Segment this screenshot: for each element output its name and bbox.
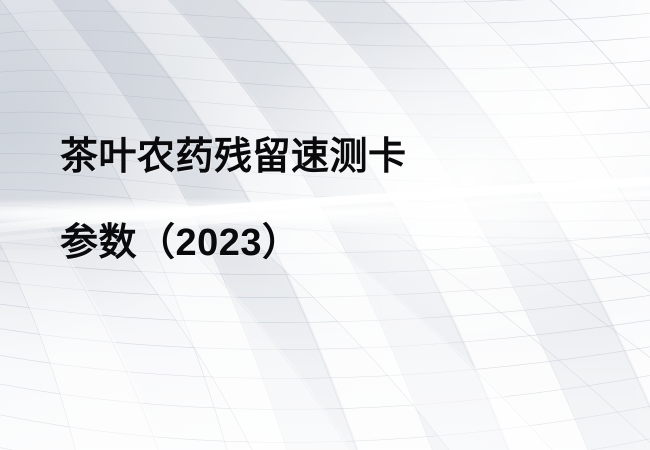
page-title: 茶叶农药残留速测卡 参数（2023） — [60, 138, 620, 262]
banner-image: 茶叶农药残留速测卡 参数（2023） — [0, 0, 650, 450]
title-line-primary: 茶叶农药残留速测卡 — [60, 138, 620, 176]
title-line-secondary: 参数（2023） — [60, 224, 620, 262]
